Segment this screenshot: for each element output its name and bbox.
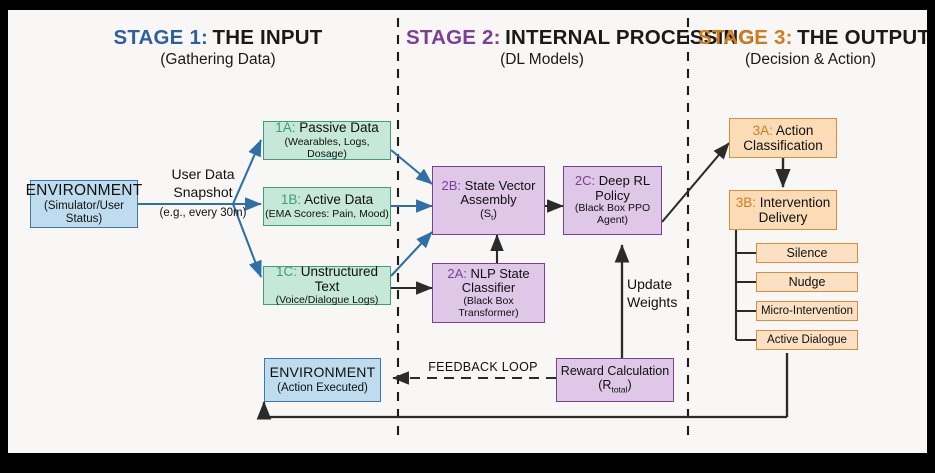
nlp-subtitle: (Black Box Transformer)	[433, 296, 544, 320]
update-weights-line2: Weights	[627, 294, 677, 310]
diagram-canvas: STAGE 1: THE INPUT (Gathering Data) STAG…	[8, 10, 927, 453]
environment-output-subtitle: (Action Executed)	[277, 382, 368, 395]
passive-data-title: 1A: Passive Data	[275, 120, 379, 135]
action-item-active-dialogue-label: Active Dialogue	[767, 334, 847, 347]
intervention-code: 3B:	[736, 195, 756, 210]
state-vector-code: 2B:	[442, 178, 462, 193]
action-item-micro-intervention[interactable]: Micro-Intervention	[756, 301, 858, 321]
action-class-name: Action	[776, 123, 814, 138]
node-action-classification[interactable]: 3A: Action Classification	[729, 118, 837, 158]
deep-rl-name2: Policy	[595, 189, 630, 204]
edge-label-user-data: User Data Snapshot (e.g., every 30m)	[148, 166, 258, 221]
stage-1-name: THE INPUT	[213, 26, 323, 49]
node-deep-rl-policy[interactable]: 2C: Deep RL Policy (Black Box PPO Agent)	[563, 166, 662, 235]
deep-rl-title: 2C: Deep RL	[575, 174, 650, 189]
passive-data-name: Passive Data	[299, 120, 379, 135]
stage-3-subtitle: (Decision & Action)	[698, 51, 923, 69]
stage-title-1: STAGE 1: THE INPUT (Gathering Data)	[78, 26, 358, 69]
node-reward-calculation[interactable]: Reward Calculation (Rtotal)	[556, 358, 674, 402]
active-data-subtitle: (EMA Scores: Pain, Mood)	[265, 209, 389, 221]
stage-1-subtitle: (Gathering Data)	[78, 51, 358, 69]
passive-data-code: 1A:	[275, 120, 295, 135]
active-data-name: Active Data	[304, 192, 373, 207]
node-nlp-state-classifier[interactable]: 2A: NLP State Classifier (Black Box Tran…	[432, 263, 545, 323]
node-intervention-delivery[interactable]: 3B: Intervention Delivery	[729, 190, 837, 230]
environment-input-subtitle: (Simulator/User Status)	[31, 200, 137, 226]
stage-2-label: STAGE 2:	[406, 26, 501, 49]
deep-rl-code: 2C:	[575, 173, 595, 188]
action-class-title: 3A: Action	[753, 123, 814, 138]
deep-rl-subtitle2: Agent)	[597, 215, 628, 227]
action-class-name2: Classification	[743, 138, 823, 153]
user-data-line2: Snapshot	[173, 184, 232, 200]
nlp-code: 2A:	[447, 266, 467, 281]
stage-title-3: STAGE 3: THE OUTPUT (Decision & Action)	[698, 26, 923, 69]
edge-1a-to-2b	[391, 150, 432, 184]
node-active-data[interactable]: 1B: Active Data (EMA Scores: Pain, Mood)	[263, 187, 391, 226]
diagram-frame: STAGE 1: THE INPUT (Gathering Data) STAG…	[0, 0, 935, 473]
action-item-nudge-label: Nudge	[789, 275, 826, 289]
unstructured-text-name: Unstructured Text	[301, 264, 378, 294]
nlp-title: 2A: NLP State	[447, 267, 529, 282]
state-vector-symbol-close: )	[493, 208, 497, 220]
update-weights-line1: Update	[627, 276, 672, 292]
action-item-micro-intervention-label: Micro-Intervention	[761, 305, 853, 318]
edge-label-feedback-loop: FEEDBACK LOOP	[413, 360, 553, 374]
reward-title: Reward Calculation	[561, 364, 669, 378]
reward-symbol-sub: total	[611, 385, 627, 395]
state-vector-name2: Assembly	[460, 193, 516, 208]
stage-2-subtitle: (DL Models)	[406, 51, 678, 69]
edge-2c-to-3a	[662, 143, 729, 222]
reward-symbol-open: (R	[598, 378, 611, 392]
action-item-active-dialogue[interactable]: Active Dialogue	[756, 330, 858, 350]
intervention-name: Intervention	[760, 195, 831, 210]
node-environment-input[interactable]: ENVIRONMENT (Simulator/User Status)	[30, 180, 138, 228]
environment-output-title: ENVIRONMENT	[270, 365, 376, 381]
unstructured-text-title: 1C: Unstructured Text	[264, 264, 390, 294]
deep-rl-name: Deep RL	[599, 173, 650, 188]
stage-title-2: STAGE 2: INTERNAL PROCESSING (DL Models)	[406, 26, 678, 69]
node-environment-output[interactable]: ENVIRONMENT (Action Executed)	[264, 358, 381, 402]
action-class-code: 3A:	[753, 123, 773, 138]
reward-symbol-close: )	[628, 378, 632, 392]
intervention-name2: Delivery	[759, 210, 808, 225]
user-data-note: (e.g., every 30m)	[160, 207, 247, 219]
node-unstructured-text[interactable]: 1C: Unstructured Text (Voice/Dialogue Lo…	[263, 266, 391, 305]
state-vector-symbol-open: (S	[480, 208, 491, 220]
nlp-name2: Classifier	[462, 281, 515, 296]
nlp-name: NLP State	[471, 266, 530, 281]
action-item-nudge[interactable]: Nudge	[756, 272, 858, 292]
state-vector-name: State Vector	[465, 178, 536, 193]
passive-data-subtitle: (Wearables, Logs, Dosage)	[264, 137, 390, 161]
state-vector-symbol: (St)	[480, 208, 497, 223]
action-item-silence[interactable]: Silence	[756, 243, 858, 263]
node-state-vector-assembly[interactable]: 2B: State Vector Assembly (St)	[432, 166, 545, 235]
stage-3-name: THE OUTPUT	[797, 26, 927, 49]
intervention-title: 3B: Intervention	[736, 195, 831, 210]
edge-3b-to-actions	[736, 228, 756, 340]
active-data-code: 1B:	[281, 192, 301, 207]
action-item-silence-label: Silence	[787, 246, 828, 260]
stage-1-label: STAGE 1:	[113, 26, 208, 49]
state-vector-title: 2B: State Vector	[442, 179, 536, 194]
stage-3-label: STAGE 3:	[698, 26, 793, 49]
environment-input-title: ENVIRONMENT	[26, 182, 143, 199]
unstructured-text-code: 1C:	[276, 264, 297, 279]
edge-label-update-weights: Update Weights	[627, 276, 697, 313]
active-data-title: 1B: Active Data	[281, 192, 373, 207]
unstructured-text-subtitle: (Voice/Dialogue Logs)	[276, 295, 379, 307]
edge-1c-to-2b	[391, 232, 432, 276]
reward-symbol: (Rtotal)	[598, 378, 631, 395]
user-data-line1: User Data	[171, 166, 234, 182]
node-passive-data[interactable]: 1A: Passive Data (Wearables, Logs, Dosag…	[263, 121, 391, 160]
